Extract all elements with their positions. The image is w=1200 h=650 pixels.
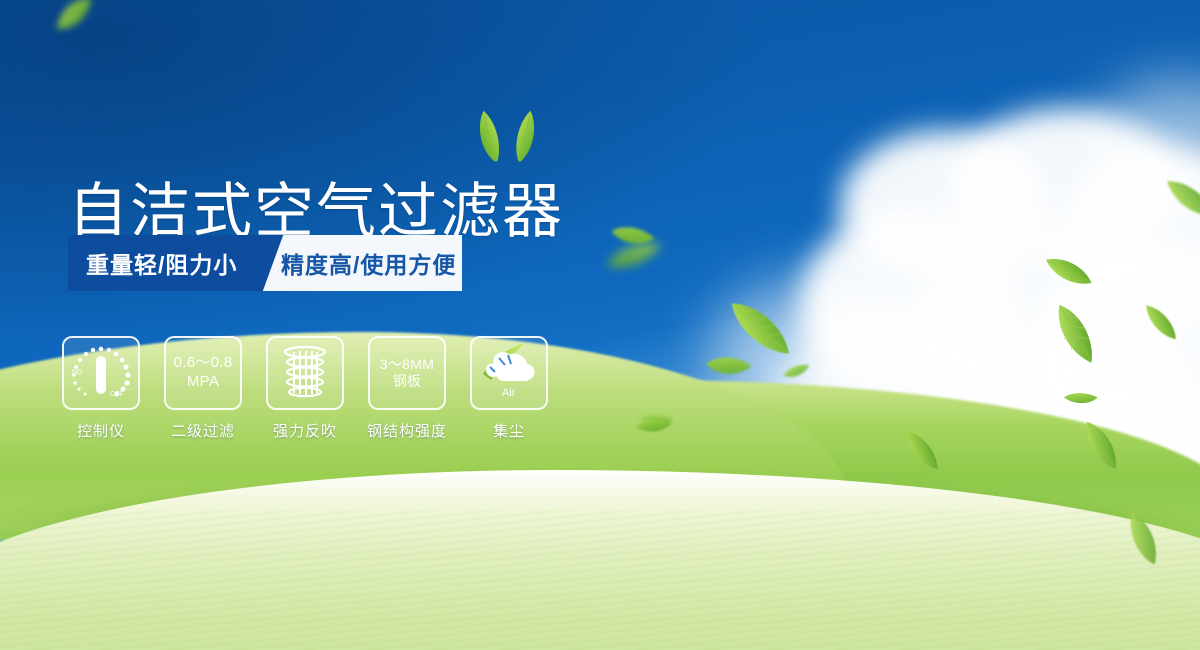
air-cloud-icon: Air	[470, 336, 548, 410]
grass-texture	[0, 510, 1200, 650]
subtitle-left-segment: 重量轻/阻力小	[68, 235, 257, 291]
steel-plate-value: 3～8MM 钢板	[380, 356, 434, 391]
feature-item-reverse-blow[interactable]: 强力反吹	[266, 336, 344, 441]
subtitle-right-segment: 精度高/使用方便	[257, 235, 462, 291]
gauge-off-label: OFF	[110, 391, 124, 398]
sprout-leaves-icon	[468, 108, 548, 164]
gauge-no-label: NO	[72, 369, 83, 376]
feature-icon-row: NO OFF 控制仪 0.6～0.8 MPA 二级过滤	[62, 336, 548, 441]
feature-item-two-stage-filter[interactable]: 0.6～0.8 MPA 二级过滤	[164, 336, 242, 441]
gauge-dial-icon: NO OFF	[62, 336, 140, 410]
pressure-text-icon: 0.6～0.8 MPA	[164, 336, 242, 410]
feature-caption: 二级过滤	[171, 420, 235, 441]
feature-item-controller[interactable]: NO OFF 控制仪	[62, 336, 140, 441]
pressure-value: 0.6～0.8 MPA	[174, 354, 233, 392]
steel-plate-text-icon: 3～8MM 钢板	[368, 336, 446, 410]
subtitle-bar: 重量轻/阻力小 精度高/使用方便	[68, 235, 462, 291]
feature-caption: 强力反吹	[273, 420, 337, 441]
feature-item-dust-collection[interactable]: Air 集尘	[470, 336, 548, 441]
filter-cartridge-icon	[266, 336, 344, 410]
feature-item-steel-strength[interactable]: 3～8MM 钢板 钢结构强度	[368, 336, 446, 441]
feature-caption: 控制仪	[77, 420, 125, 441]
feature-caption: 钢结构强度	[367, 420, 447, 441]
product-hero-banner: 自洁式空气过滤器 重量轻/阻力小 精度高/使用方便	[0, 0, 1200, 650]
air-label: Air	[502, 387, 516, 399]
banner-headline: 自洁式空气过滤器	[68, 182, 564, 242]
feature-caption: 集尘	[493, 420, 525, 441]
